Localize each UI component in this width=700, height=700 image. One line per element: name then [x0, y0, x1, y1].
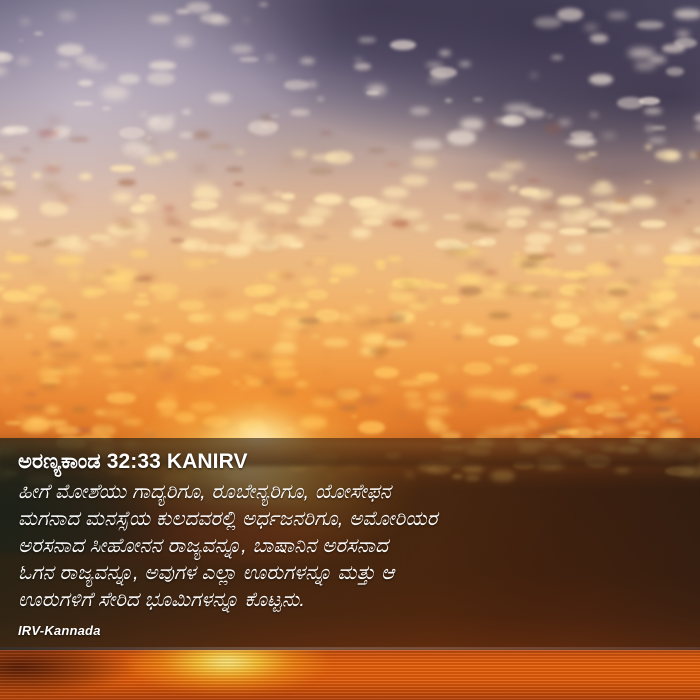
- verse-line: ಅರಸನಾದ ಸೀಹೋನನ ರಾಜ್ಯವನ್ನೂ, ಬಾಷಾನಿನ ಅರಸನಾದ: [18, 533, 684, 560]
- verse-overlay-panel: ಅರಣ್ಯಕಾಂಡ 32:33 KANIRV ಹೀಗೆ ಮೋಶೆಯು ಗಾದ್ಯ…: [0, 438, 700, 650]
- water-reflection: [0, 647, 700, 700]
- verse-line: ಹೀಗೆ ಮೋಶೆಯು ಗಾದ್ಯರಿಗೂ, ರೂಬೇನ್ಯರಿಗೂ, ಯೋಸೇ…: [18, 479, 684, 506]
- verse-line: ಓಗನ ರಾಜ್ಯವನ್ನೂ, ಅವುಗಳ ಎಲ್ಲಾ ಊರುಗಳನ್ನೂ ಮತ…: [18, 560, 684, 587]
- translation-attribution: IRV-Kannada: [18, 623, 101, 638]
- verse-image: ಅರಣ್ಯಕಾಂಡ 32:33 KANIRV ಹೀಗೆ ಮೋಶೆಯು ಗಾದ್ಯ…: [0, 0, 700, 700]
- verse-line: ಊರುಗಳಿಗೆ ಸೇರಿದ ಭೂಮಿಗಳನ್ನೂ ಕೊಟ್ಟನು.: [18, 587, 684, 614]
- water-ripples: [0, 647, 700, 700]
- verse-line: ಮಗನಾದ ಮನಸ್ಸೆಯ ಕುಲದವರಲ್ಲಿ ಅರ್ಧಜನರಿಗೂ, ಅಮೋ…: [18, 506, 684, 533]
- verse-reference: ಅರಣ್ಯಕಾಂಡ 32:33 KANIRV: [18, 448, 684, 476]
- verse-text: ಹೀಗೆ ಮೋಶೆಯು ಗಾದ್ಯರಿಗೂ, ರೂಬೇನ್ಯರಿಗೂ, ಯೋಸೇ…: [18, 479, 684, 614]
